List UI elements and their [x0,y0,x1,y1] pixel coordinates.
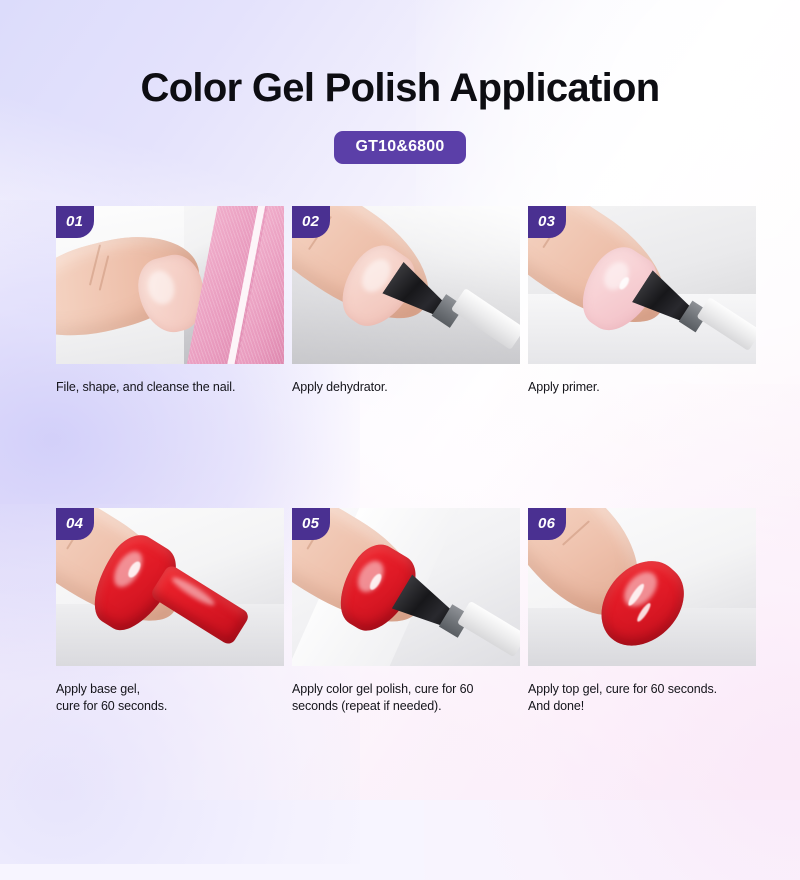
page-title: Color Gel Polish Application [0,66,800,111]
step-caption-05: Apply color gel polish, cure for 60 seco… [292,681,520,715]
step-card-05: 05 Apply color gel polish, cure for 60 s… [292,508,520,715]
step-image-05: 05 [292,508,520,666]
steps-row-2: 04 Apply base gel, cure for 60 seconds. [56,508,748,715]
product-code-badge: GT10&6800 [334,131,467,164]
step-number-05: 05 [292,508,330,540]
step-image-04: 04 [56,508,284,666]
step-card-06: 06 Apply top gel, cure for 60 seconds. A… [528,508,756,715]
step-image-02: 02 [292,206,520,364]
caption-line-1: Apply color gel polish, cure for 60 [292,682,473,696]
step-caption-01: File, shape, and cleanse the nail. [56,379,284,396]
step-card-04: 04 Apply base gel, cure for 60 seconds. [56,508,284,715]
step-number-06: 06 [528,508,566,540]
step-caption-03: Apply primer. [528,379,756,396]
step-number-02: 02 [292,206,330,238]
step-number-03: 03 [528,206,566,238]
step-caption-06: Apply top gel, cure for 60 seconds. And … [528,681,756,715]
step-card-03: 03 Apply primer. [528,206,756,396]
steps-row-1: 01 File, shape, and cleanse the nail. [56,206,748,396]
steps-grid: 01 File, shape, and cleanse the nail. [56,206,748,715]
step-number-01: 01 [56,206,94,238]
caption-line-1: Apply base gel, [56,682,140,696]
step-card-02: 02 Apply dehydrator. [292,206,520,396]
caption-line-2: And done! [528,698,756,715]
step-number-04: 04 [56,508,94,540]
caption-line-2: cure for 60 seconds. [56,698,284,715]
step-image-03: 03 [528,206,756,364]
caption-line-1: Apply primer. [528,380,600,394]
step-caption-04: Apply base gel, cure for 60 seconds. [56,681,284,715]
caption-line-1: File, shape, and cleanse the nail. [56,380,235,394]
step-image-06: 06 [528,508,756,666]
step-card-01: 01 File, shape, and cleanse the nail. [56,206,284,396]
product-code-badge-container: GT10&6800 [0,131,800,164]
step-caption-02: Apply dehydrator. [292,379,520,396]
caption-line-2: seconds (repeat if needed). [292,698,520,715]
caption-line-1: Apply dehydrator. [292,380,388,394]
caption-line-1: Apply top gel, cure for 60 seconds. [528,682,717,696]
step-image-01: 01 [56,206,284,364]
